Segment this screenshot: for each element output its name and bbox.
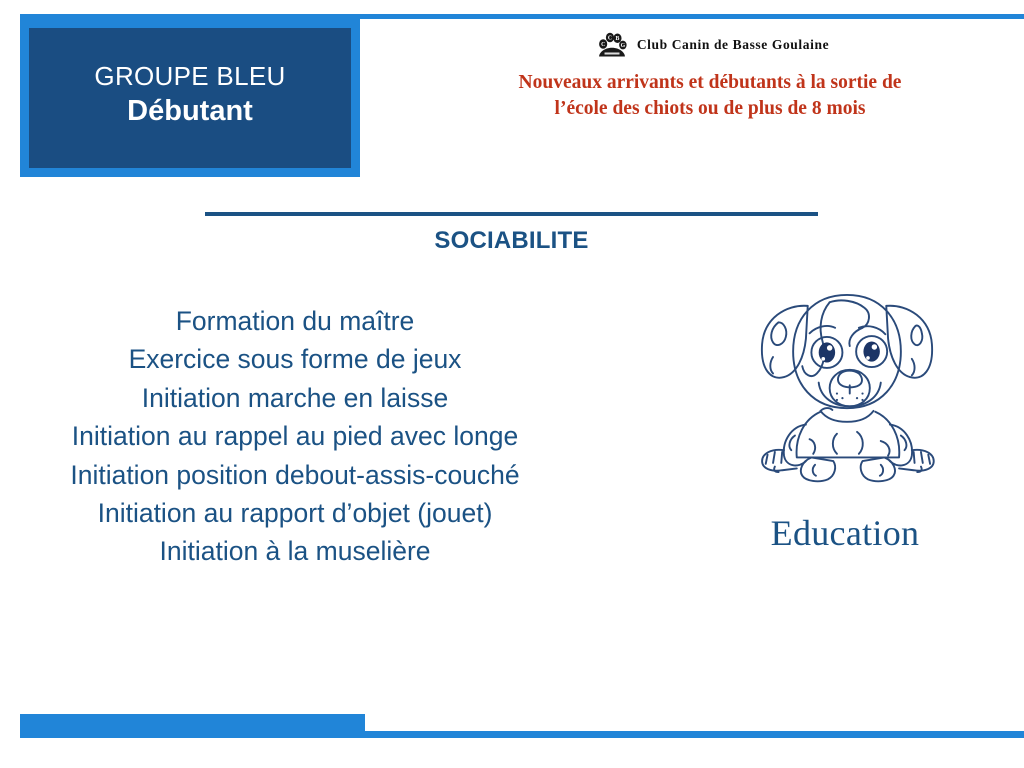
section-divider-rule <box>205 212 818 216</box>
list-item: Initiation marche en laisse <box>10 379 580 417</box>
group-title-box: GROUPE BLEU Débutant <box>20 19 360 177</box>
list-item: Exercice sous forme de jeux <box>10 340 580 378</box>
svg-text:C: C <box>608 36 612 42</box>
list-item: Initiation au rappel au pied avec longe <box>10 417 580 455</box>
group-title-line2: Débutant <box>127 93 253 129</box>
svg-text:B: B <box>615 36 619 42</box>
puppy-line-art-icon <box>742 276 952 491</box>
header-subtitle-line1: Nouveaux arrivants et débutants à la sor… <box>390 70 1024 96</box>
list-item: Initiation à la muselière <box>10 532 580 570</box>
paw-print-icon: C C B G <box>595 28 629 62</box>
list-item: Initiation au rapport d’objet (jouet) <box>10 494 580 532</box>
group-title-box-inner: GROUPE BLEU Débutant <box>29 28 351 168</box>
group-title-line1: GROUPE BLEU <box>94 61 285 92</box>
club-logo-text: Club Canin de Basse Goulaine <box>637 37 829 53</box>
svg-text:C: C <box>601 42 605 48</box>
svg-text:G: G <box>620 43 625 49</box>
bottom-accent-rule <box>365 731 1024 738</box>
list-item: Formation du maître <box>10 302 580 340</box>
illustration-caption: Education <box>720 512 970 554</box>
activity-list: Formation du maître Exercice sous forme … <box>10 302 580 571</box>
list-item: Initiation position debout-assis-couché <box>10 456 580 494</box>
club-logo-row: C C B G Club Canin de Basse Goulaine <box>400 28 1024 62</box>
bottom-accent-block <box>20 714 365 738</box>
header-subtitle-line2: l’école des chiots ou de plus de 8 mois <box>390 96 1024 122</box>
header-subtitle: Nouveaux arrivants et débutants à la sor… <box>390 70 1024 121</box>
section-title: SOCIABILITE <box>205 227 818 255</box>
